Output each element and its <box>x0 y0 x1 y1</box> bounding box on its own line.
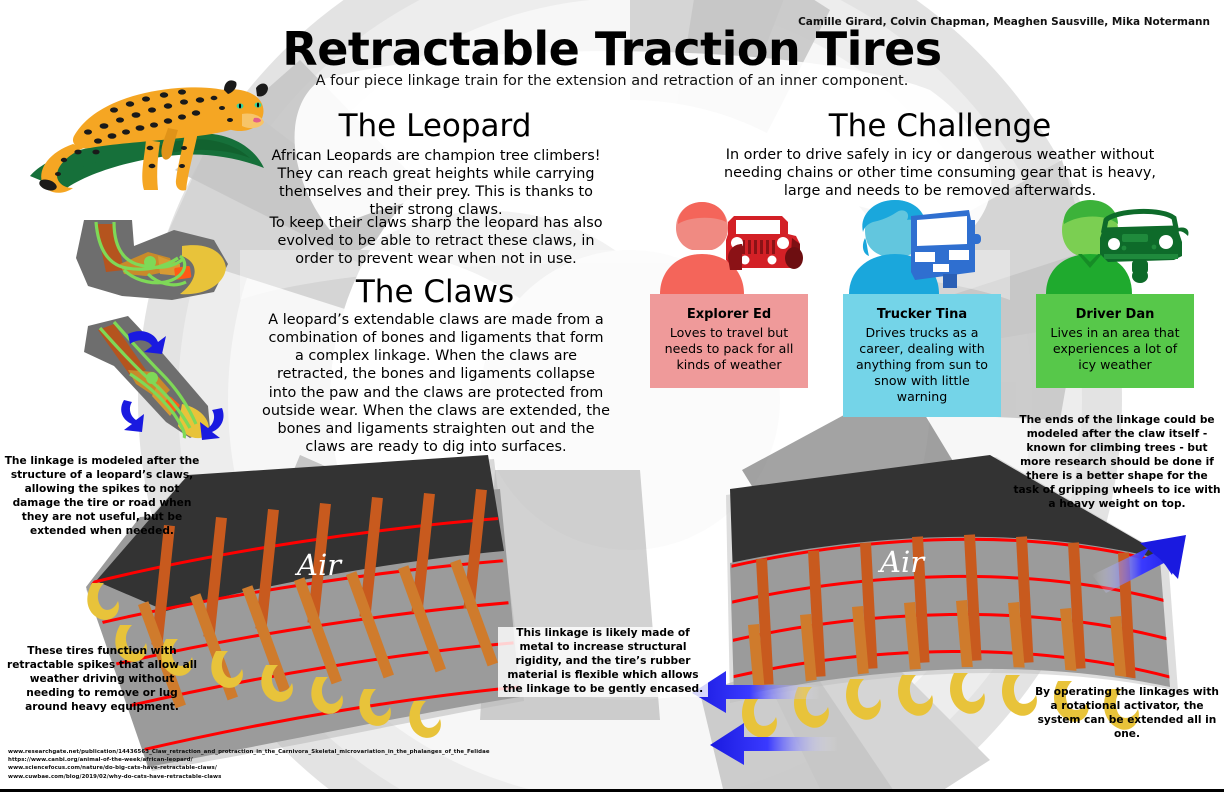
section-heading-leopard: The Leopard <box>258 108 612 144</box>
persona-text-trucker-tina: Trucker Tina Drives trucks as a career, … <box>843 294 1001 417</box>
leopard-illustration <box>18 48 280 198</box>
claw-retracted-diagram <box>62 212 242 312</box>
section-heading-claws: The Claws <box>258 274 612 310</box>
annotation-left-lower: These tires function with retractable sp… <box>4 645 200 715</box>
persona-art-explorer-ed <box>650 198 808 294</box>
references-list: www.researchgate.net/publication/1443656… <box>8 748 490 782</box>
page-subtitle: A four piece linkage train for the exten… <box>312 72 912 90</box>
persona-card-explorer-ed[interactable]: Explorer Ed Loves to travel but needs to… <box>650 198 808 388</box>
persona-name: Trucker Tina <box>851 307 993 324</box>
annotation-left-upper: The linkage is modeled after the structu… <box>4 455 200 539</box>
reference-item[interactable]: www.researchgate.net/publication/1443656… <box>8 748 490 756</box>
jeep-icon <box>726 216 803 270</box>
persona-description: Loves to travel but needs to pack for al… <box>665 325 794 372</box>
persona-description: Lives in an area that experiences a lot … <box>1050 325 1179 372</box>
annotation-top-right: The ends of the linkage could be modeled… <box>1012 414 1222 512</box>
section-body-leopard-1: African Leopards are champion tree climb… <box>262 147 610 220</box>
persona-name: Explorer Ed <box>658 307 800 324</box>
infographic-poster: Retractable Traction Tires A four piece … <box>0 0 1224 792</box>
reference-item[interactable]: www.sciencefocus.com/nature/do-big-cats-… <box>8 764 490 772</box>
section-body-claws-1: A leopard’s extendable claws are made fr… <box>262 311 610 456</box>
annotation-center: This linkage is likely made of metal to … <box>498 627 708 697</box>
section-body-leopard-2: To keep their claws sharp the leopard ha… <box>262 214 610 268</box>
authors-list: Camille Girard, Colvin Chapman, Meaghen … <box>798 16 1210 28</box>
persona-text-explorer-ed: Explorer Ed Loves to travel but needs to… <box>650 294 808 388</box>
persona-card-driver-dan[interactable]: Driver Dan Lives in an area that experie… <box>1036 198 1194 388</box>
persona-card-trucker-tina[interactable]: Trucker Tina Drives trucks as a career, … <box>843 198 1001 417</box>
persona-description: Drives trucks as a career, dealing with … <box>856 325 988 404</box>
section-heading-challenge: The Challenge <box>760 108 1120 144</box>
reference-item[interactable]: www.cuwbae.com/blog/2019/02/why-do-cats-… <box>8 773 490 781</box>
persona-text-driver-dan: Driver Dan Lives in an area that experie… <box>1036 294 1194 388</box>
claw-extended-diagram <box>62 312 252 444</box>
persona-art-driver-dan <box>1036 198 1194 294</box>
annotation-bottom-right: By operating the linkages with a rotatio… <box>1032 686 1222 742</box>
persona-art-trucker-tina <box>843 198 1001 294</box>
air-label-left: Air <box>297 548 341 582</box>
air-label-right: Air <box>880 545 924 579</box>
section-body-challenge-1: In order to drive safely in icy or dange… <box>724 146 1156 200</box>
truck-icon <box>911 210 981 288</box>
reference-item[interactable]: https://www.canbi.org/animal-of-the-week… <box>8 756 490 764</box>
persona-name: Driver Dan <box>1044 307 1186 324</box>
